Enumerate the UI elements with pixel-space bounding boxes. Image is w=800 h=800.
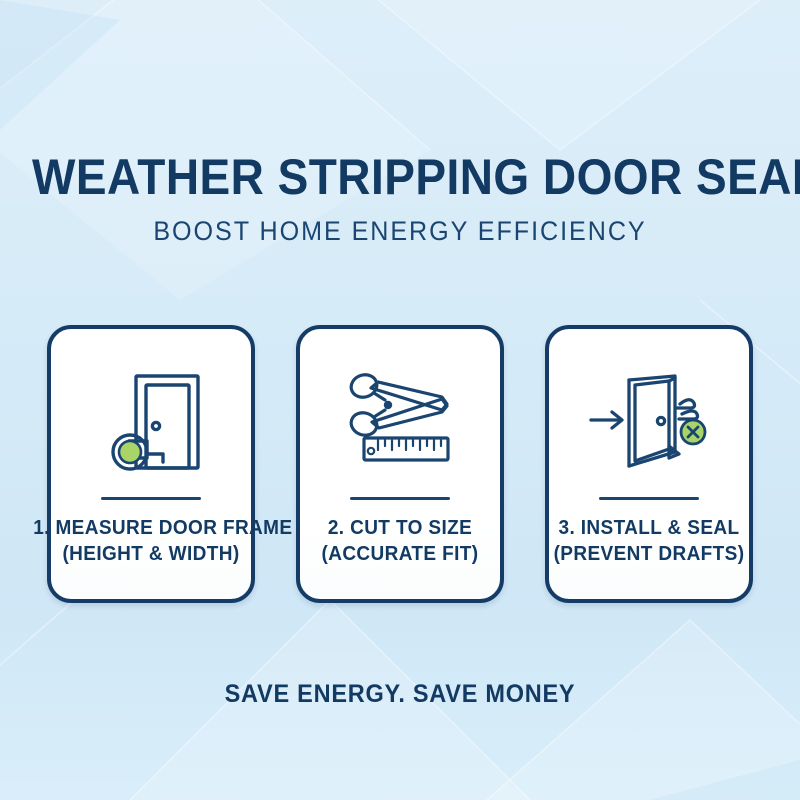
step-card-2-line1: 2. CUT TO SIZE — [328, 517, 472, 539]
steps-card-row: 1. MEASURE DOOR FRAME (HEIGHT & WIDTH) — [0, 325, 800, 605]
card-divider — [599, 497, 699, 500]
page-subtitle: BOOST HOME ENERGY EFFICIENCY — [28, 214, 772, 248]
step-card-2-text: 2. CUT TO SIZE (ACCURATE FIT) — [282, 515, 518, 567]
step-card-3-text: 3. INSTALL & SEAL (PREVENT DRAFTS) — [531, 515, 767, 567]
step-card-1-line2: (HEIGHT & WIDTH) — [33, 541, 269, 567]
step-card-2-line2: (ACCURATE FIT) — [282, 541, 518, 567]
step-card-3-line2: (PREVENT DRAFTS) — [531, 541, 767, 567]
infographic-poster: WEATHER STRIPPING DOOR SEALS BOOST HOME … — [0, 0, 800, 800]
door-frame-tape-measure-icon — [51, 363, 251, 481]
step-card-1-line1: 1. MEASURE DOOR FRAME — [33, 517, 292, 539]
footer-tagline: SAVE ENERGY. SAVE MONEY — [24, 679, 776, 709]
open-door-draft-blocked-icon — [549, 363, 749, 481]
step-card-1-text: 1. MEASURE DOOR FRAME (HEIGHT & WIDTH) — [33, 515, 269, 567]
card-divider — [350, 497, 450, 500]
card-divider — [101, 497, 201, 500]
scissors-ruler-icon — [300, 363, 500, 481]
step-card-1[interactable]: 1. MEASURE DOOR FRAME (HEIGHT & WIDTH) — [47, 325, 255, 603]
header: WEATHER STRIPPING DOOR SEALS BOOST HOME … — [0, 148, 800, 248]
step-card-3-line1: 3. INSTALL & SEAL — [558, 517, 739, 539]
step-card-3[interactable]: 3. INSTALL & SEAL (PREVENT DRAFTS) — [545, 325, 753, 603]
page-title: WEATHER STRIPPING DOOR SEALS — [32, 148, 768, 206]
step-card-2[interactable]: 2. CUT TO SIZE (ACCURATE FIT) — [296, 325, 504, 603]
